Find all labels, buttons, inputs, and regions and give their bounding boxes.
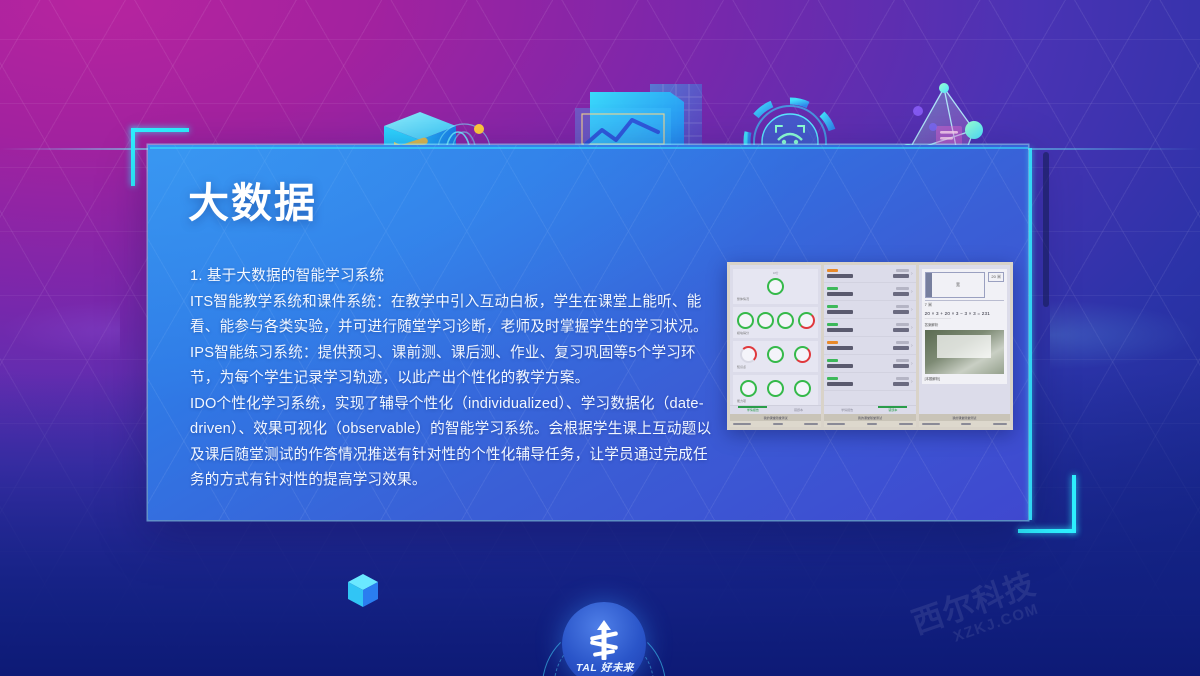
ring-group: 模块得分 <box>733 307 818 338</box>
worksheet: 宽 20 米 7 米 20 × 3 + 20 × 3 − 3 × 3 = 231… <box>922 269 1007 384</box>
bottom-bar: 我的课堂随堂测试 <box>824 414 915 421</box>
progress-ring <box>767 380 784 397</box>
ring-item <box>757 310 774 331</box>
page-title: 大数据 <box>188 183 317 224</box>
panel-right-edge-line <box>1029 148 1032 520</box>
list-item[interactable]: › <box>824 283 915 301</box>
item-value <box>893 364 909 368</box>
ring-item <box>777 310 794 331</box>
ring-item <box>794 344 811 365</box>
ring-item: 18分 <box>767 272 784 297</box>
item-value <box>893 382 909 386</box>
ring-item <box>767 344 784 365</box>
chevron-right-icon: › <box>911 361 913 367</box>
progress-ring <box>737 312 754 329</box>
status-badge <box>827 341 838 344</box>
ring-group: 18分 整体情况 <box>733 269 818 304</box>
ring-item <box>740 378 757 399</box>
diagram-box: 宽 <box>925 272 986 298</box>
slide-stage: 大数据 1. 基于大数据的智能学习系统 ITS智能教学系统和课件系统：在教学中引… <box>0 0 1200 676</box>
item-name <box>827 382 853 386</box>
equation: 20 × 3 + 20 × 3 − 3 × 3 = 231 <box>925 311 1004 316</box>
chevron-right-icon: › <box>911 379 913 385</box>
chevron-right-icon: › <box>911 307 913 313</box>
paragraph-1: 1. 基于大数据的智能学习系统 <box>190 264 720 290</box>
tab-wrong-questions[interactable]: 错题本 <box>776 406 822 414</box>
item-value <box>893 346 909 350</box>
chevron-right-icon: › <box>911 343 913 349</box>
item-sub <box>896 305 909 308</box>
ring-group: 知识点 <box>733 341 818 372</box>
paragraph-2: ITS智能教学系统和课件系统：在教学中引入互动白板，学生在课堂上能听、能看、能参… <box>190 290 720 341</box>
status-badge <box>827 305 838 308</box>
item-name <box>827 364 853 368</box>
paragraph-3: IPS智能练习系统：提供预习、课前测、课后测、作业、复习巩固等5个学习环节，为每… <box>190 341 720 392</box>
logo-text: TAL 好未来 <box>540 660 670 675</box>
diagram-label: 宽 <box>932 273 985 297</box>
status-badge <box>827 287 838 290</box>
item-value <box>893 292 909 296</box>
list-body: › › › › › › › <box>824 265 915 405</box>
item-name <box>827 292 853 296</box>
item-sub <box>896 287 909 290</box>
ring-item <box>737 310 754 331</box>
item-name <box>827 328 853 332</box>
chevron-right-icon: › <box>911 271 913 277</box>
status-badge <box>827 377 838 380</box>
diagram-caption: 7 米 <box>925 300 1004 308</box>
panel-tabs[interactable]: 学情报告 错题本 <box>824 405 915 414</box>
progress-ring <box>794 346 811 363</box>
progress-ring <box>740 346 757 363</box>
chevron-right-icon: › <box>911 325 913 331</box>
tab-report[interactable]: 学情报告 <box>824 406 870 414</box>
equation-note: ——————————— <box>925 317 1004 320</box>
answer-label: 答案解析 <box>925 322 1004 327</box>
group-caption: 模块得分 <box>737 331 816 335</box>
worksheet-panel: 宽 20 米 7 米 20 × 3 + 20 × 3 − 3 × 3 = 231… <box>919 265 1010 427</box>
item-value <box>893 310 909 314</box>
bottom-bar-text: 我的课堂随堂测试 <box>858 416 882 420</box>
panel-top-edge-line <box>150 147 1028 149</box>
analysis-label: [本题解析] <box>925 376 1004 381</box>
ring-item <box>794 378 811 399</box>
phone-nav <box>824 421 915 427</box>
ring-row: 18分 <box>735 272 816 297</box>
list-item[interactable]: › <box>824 265 915 283</box>
progress-ring <box>794 380 811 397</box>
question-list-panel: › › › › › › › 学情报告 错题本 我的课堂随堂测试 <box>824 265 915 427</box>
tal-logo: TAL 好未来 <box>540 600 670 676</box>
item-sub <box>896 323 909 326</box>
ring-group: 能力项 <box>733 375 818 405</box>
list-item[interactable]: › <box>824 337 915 355</box>
pine-tree-icon <box>584 618 624 662</box>
ring-row <box>735 310 816 331</box>
status-badge <box>827 269 838 272</box>
item-value <box>893 274 909 278</box>
tab-report[interactable]: 学情报告 <box>730 406 776 414</box>
ring-label: 18分 <box>767 272 784 276</box>
ring-item <box>767 378 784 399</box>
item-sub <box>896 377 909 380</box>
list-item[interactable]: › <box>824 355 915 373</box>
status-badge <box>827 359 838 362</box>
item-sub <box>896 359 909 362</box>
bottom-bar: 我的课堂随堂测试 <box>730 414 821 421</box>
panel-tabs[interactable]: 学情报告 错题本 <box>730 405 821 414</box>
phone-nav <box>919 421 1010 427</box>
scroll-rail[interactable] <box>1043 152 1049 307</box>
app-screenshots: 18分 整体情况 模块得分 <box>727 262 1013 430</box>
worksheet-body: 宽 20 米 7 米 20 × 3 + 20 × 3 − 3 × 3 = 231… <box>919 265 1010 414</box>
progress-ring <box>740 380 757 397</box>
item-value <box>893 328 909 332</box>
group-caption: 知识点 <box>737 365 816 369</box>
bottom-bar-text: 我的课堂随堂测试 <box>952 416 976 420</box>
list-item[interactable]: › <box>824 301 915 319</box>
left-light-streak <box>0 300 120 360</box>
worksheet-photo <box>925 330 1004 374</box>
phone-nav <box>730 421 821 427</box>
paragraph-4: IDO个性化学习系统，实现了辅导个性化（individualized）、学习数据… <box>190 392 720 494</box>
ring-item <box>798 310 815 331</box>
right-light-streak <box>1050 300 1200 370</box>
chevron-right-icon: › <box>911 289 913 295</box>
bottom-bar: 我的课堂随堂测试 <box>919 414 1010 421</box>
bottom-bar-text: 我的课堂随堂测试 <box>764 416 788 420</box>
group-caption: 整体情况 <box>737 297 816 301</box>
rings-body: 18分 整体情况 模块得分 <box>730 265 821 405</box>
ring-item <box>740 344 757 365</box>
group-caption: 能力项 <box>737 399 816 403</box>
body-copy: 1. 基于大数据的智能学习系统 ITS智能教学系统和课件系统：在教学中引入互动白… <box>190 264 720 494</box>
progress-ring <box>798 312 815 329</box>
item-name <box>827 346 853 350</box>
tab-wrong-questions[interactable]: 错题本 <box>870 406 916 414</box>
item-sub <box>896 341 909 344</box>
ring-row <box>735 378 816 399</box>
progress-rings-panel: 18分 整体情况 模块得分 <box>730 265 821 427</box>
progress-ring <box>757 312 774 329</box>
item-name <box>827 274 853 278</box>
item-name <box>827 310 853 314</box>
ring-row <box>735 344 816 365</box>
status-badge <box>827 323 838 326</box>
diagram-side-label: 20 米 <box>988 272 1004 282</box>
progress-ring <box>767 278 784 295</box>
item-sub <box>896 269 909 272</box>
list-item[interactable]: › <box>824 319 915 337</box>
progress-ring <box>777 312 794 329</box>
mini-cube-icon <box>345 572 381 615</box>
list-item[interactable]: › <box>824 373 915 391</box>
progress-ring <box>767 346 784 363</box>
